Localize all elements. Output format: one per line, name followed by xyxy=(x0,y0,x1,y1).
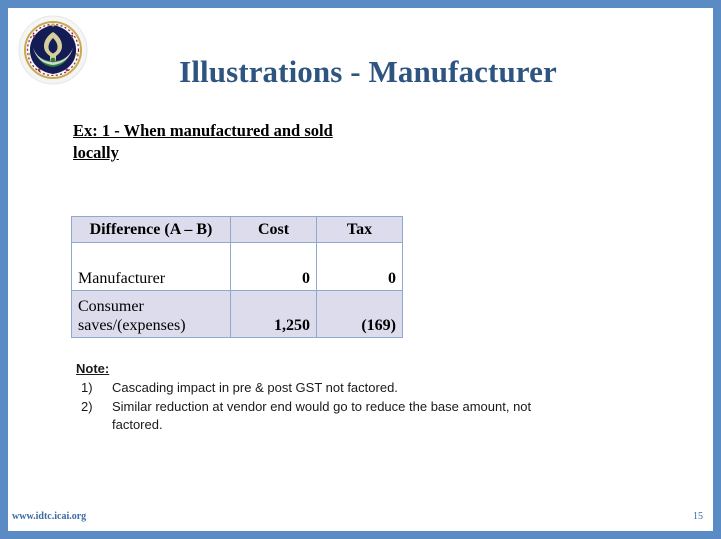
column-header-difference: Difference (A – B) xyxy=(72,217,231,243)
row-cost-manufacturer: 0 xyxy=(231,243,317,291)
note-text-2: Similar reduction at vendor end would go… xyxy=(112,399,531,432)
row-label-manufacturer: Manufacturer xyxy=(72,243,231,291)
example-subtitle-line2: locally xyxy=(73,143,119,162)
example-subtitle: Ex: 1 - When manufactured and sold local… xyxy=(73,120,403,164)
list-item: 1) Cascading impact in pre & post GST no… xyxy=(76,379,576,397)
difference-table: Difference (A – B) Cost Tax Manufacturer… xyxy=(71,216,403,338)
slide-canvas: Illustrations - Manufacturer Ex: 1 - Whe… xyxy=(8,8,713,531)
page-title: Illustrations - Manufacturer xyxy=(68,54,668,90)
table-header-row: Difference (A – B) Cost Tax xyxy=(72,217,403,243)
table-row: Manufacturer 0 0 xyxy=(72,243,403,291)
footer-page-number: 15 xyxy=(693,511,703,522)
row-cost-consumer: 1,250 xyxy=(231,291,317,338)
notes-heading: Note: xyxy=(76,361,576,376)
column-header-tax: Tax xyxy=(317,217,403,243)
note-marker-2: 2) xyxy=(81,398,93,416)
footer-website-link[interactable]: www.idtc.icai.org xyxy=(12,511,86,522)
column-header-cost: Cost xyxy=(231,217,317,243)
slide-frame: Illustrations - Manufacturer Ex: 1 - Whe… xyxy=(0,0,721,539)
note-marker-1: 1) xyxy=(81,379,93,397)
table-row: Consumer saves/(expenses) 1,250 (169) xyxy=(72,291,403,338)
note-text-1: Cascading impact in pre & post GST not f… xyxy=(112,380,398,395)
notes-block: Note: 1) Cascading impact in pre & post … xyxy=(76,361,576,435)
row-label-consumer: Consumer saves/(expenses) xyxy=(72,291,231,338)
notes-list: 1) Cascading impact in pre & post GST no… xyxy=(76,379,576,434)
example-subtitle-line1: Ex: 1 - When manufactured and sold xyxy=(73,121,333,140)
list-item: 2) Similar reduction at vendor end would… xyxy=(76,398,576,434)
row-tax-consumer: (169) xyxy=(317,291,403,338)
row-tax-manufacturer: 0 xyxy=(317,243,403,291)
